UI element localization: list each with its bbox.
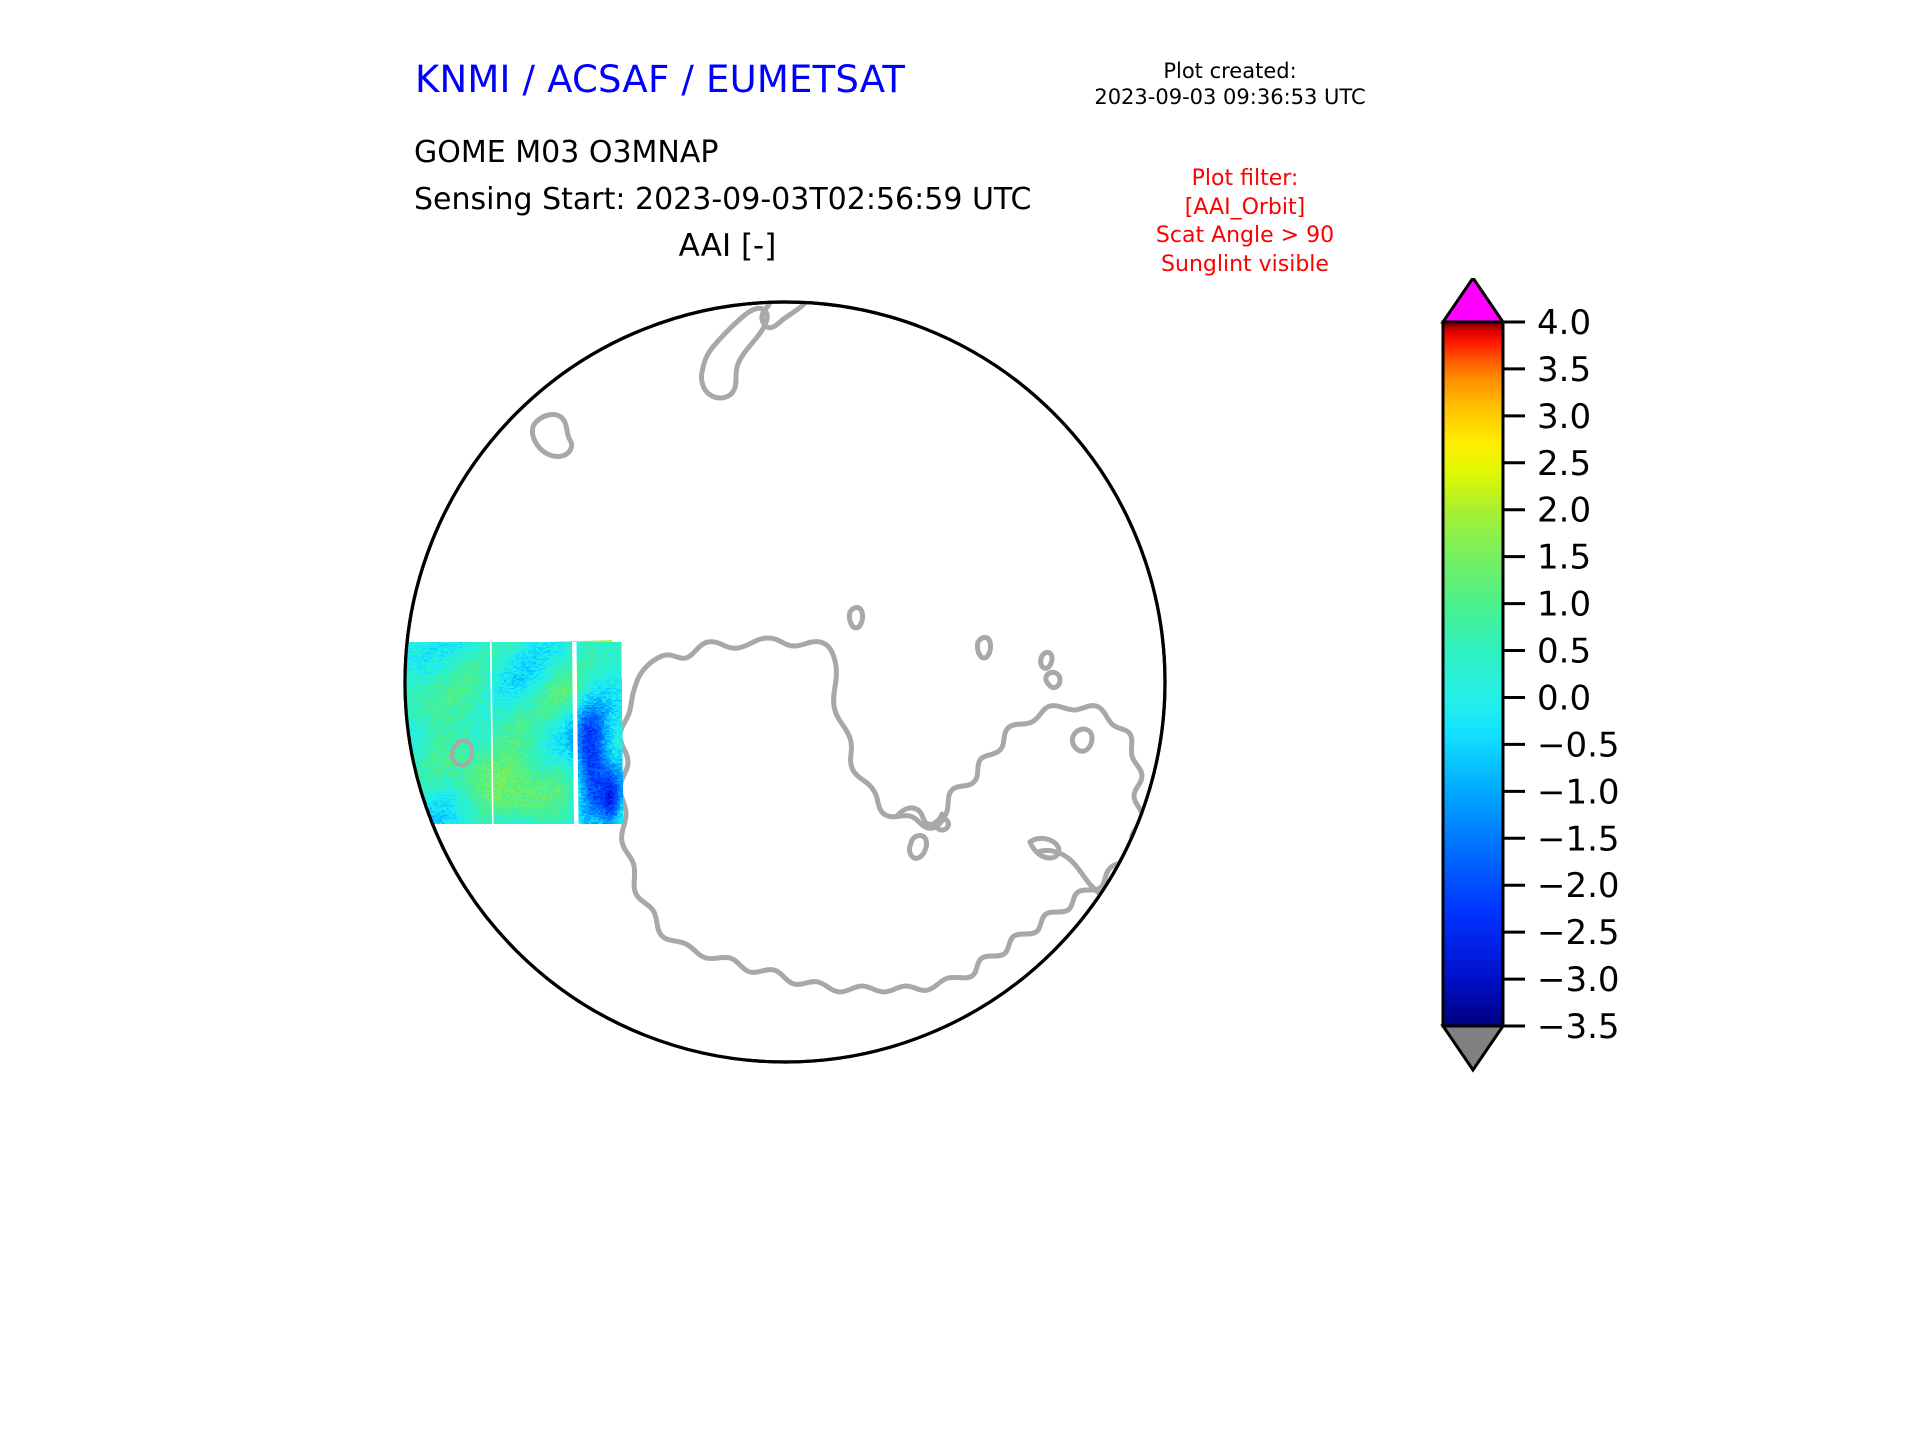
polar-map-svg bbox=[390, 270, 1180, 1070]
colorbar-tick-label: −1.5 bbox=[1537, 819, 1620, 859]
colorbar-tick-label: −1.0 bbox=[1537, 772, 1620, 812]
colorbar-tick-label: 4.0 bbox=[1537, 303, 1591, 343]
colorbar-tick-label: −2.0 bbox=[1537, 866, 1620, 906]
swath-scan-rows bbox=[390, 642, 623, 824]
aai-data-swath bbox=[390, 640, 623, 826]
colorbar-over-range-arrow bbox=[1443, 278, 1503, 322]
colorbar-tick-label: 3.0 bbox=[1537, 397, 1591, 437]
plot-created-annotation: Plot created: 2023-09-03 09:36:53 UTC bbox=[1020, 58, 1440, 110]
map-plot-area bbox=[390, 270, 1180, 1070]
colorbar-tick-label: 1.0 bbox=[1537, 585, 1591, 625]
plot-created-label: Plot created: bbox=[1020, 58, 1440, 84]
colorbar-tick-label: −3.0 bbox=[1537, 960, 1620, 1000]
coastline-peninsula-hook bbox=[1095, 902, 1109, 924]
plot-filter-annotation: Plot filter: [AAI_Orbit] Scat Angle > 90… bbox=[1035, 165, 1455, 279]
dataset-title: GOME M03 O3MNAP bbox=[414, 135, 718, 170]
plot-canvas: KNMI / ACSAF / EUMETSAT GOME M03 O3MNAP … bbox=[0, 0, 1920, 1440]
coastline-subantarctic-island bbox=[472, 392, 496, 412]
plot-filter-line-1: [AAI_Orbit] bbox=[1035, 194, 1455, 223]
plot-created-timestamp: 2023-09-03 09:36:53 UTC bbox=[1020, 84, 1440, 110]
plot-filter-line-2: Scat Angle > 90 bbox=[1035, 222, 1455, 251]
colorbar-under-range-arrow bbox=[1443, 1026, 1503, 1070]
colorbar: 4.03.53.02.52.01.51.00.50.0−0.5−1.0−1.5−… bbox=[1425, 278, 1725, 1088]
colorbar-tick-label: 0.5 bbox=[1537, 632, 1591, 672]
colorbar-tick-label: 2.5 bbox=[1537, 444, 1591, 484]
colorbar-tick-group: 4.03.53.02.52.01.51.00.50.0−0.5−1.0−1.5−… bbox=[1503, 303, 1620, 1047]
colorbar-tick-label: 3.5 bbox=[1537, 350, 1591, 390]
plot-filter-label: Plot filter: bbox=[1035, 165, 1455, 194]
colorbar-tick-label: −0.5 bbox=[1537, 725, 1620, 765]
colorbar-tick-label: −2.5 bbox=[1537, 913, 1620, 953]
colorbar-gradient-bar bbox=[1443, 322, 1503, 1026]
colorbar-svg: 4.03.53.02.52.01.51.00.50.0−0.5−1.0−1.5−… bbox=[1425, 278, 1725, 1088]
colorbar-tick-label: 1.5 bbox=[1537, 538, 1591, 578]
sensing-start-label: Sensing Start: 2023-09-03T02:56:59 UTC bbox=[414, 182, 1031, 217]
colorbar-tick-label: −3.5 bbox=[1537, 1007, 1620, 1047]
organisation-title: KNMI / ACSAF / EUMETSAT bbox=[415, 58, 905, 101]
colorbar-tick-label: 0.0 bbox=[1537, 678, 1591, 718]
colorbar-tick-label: 2.0 bbox=[1537, 491, 1591, 531]
